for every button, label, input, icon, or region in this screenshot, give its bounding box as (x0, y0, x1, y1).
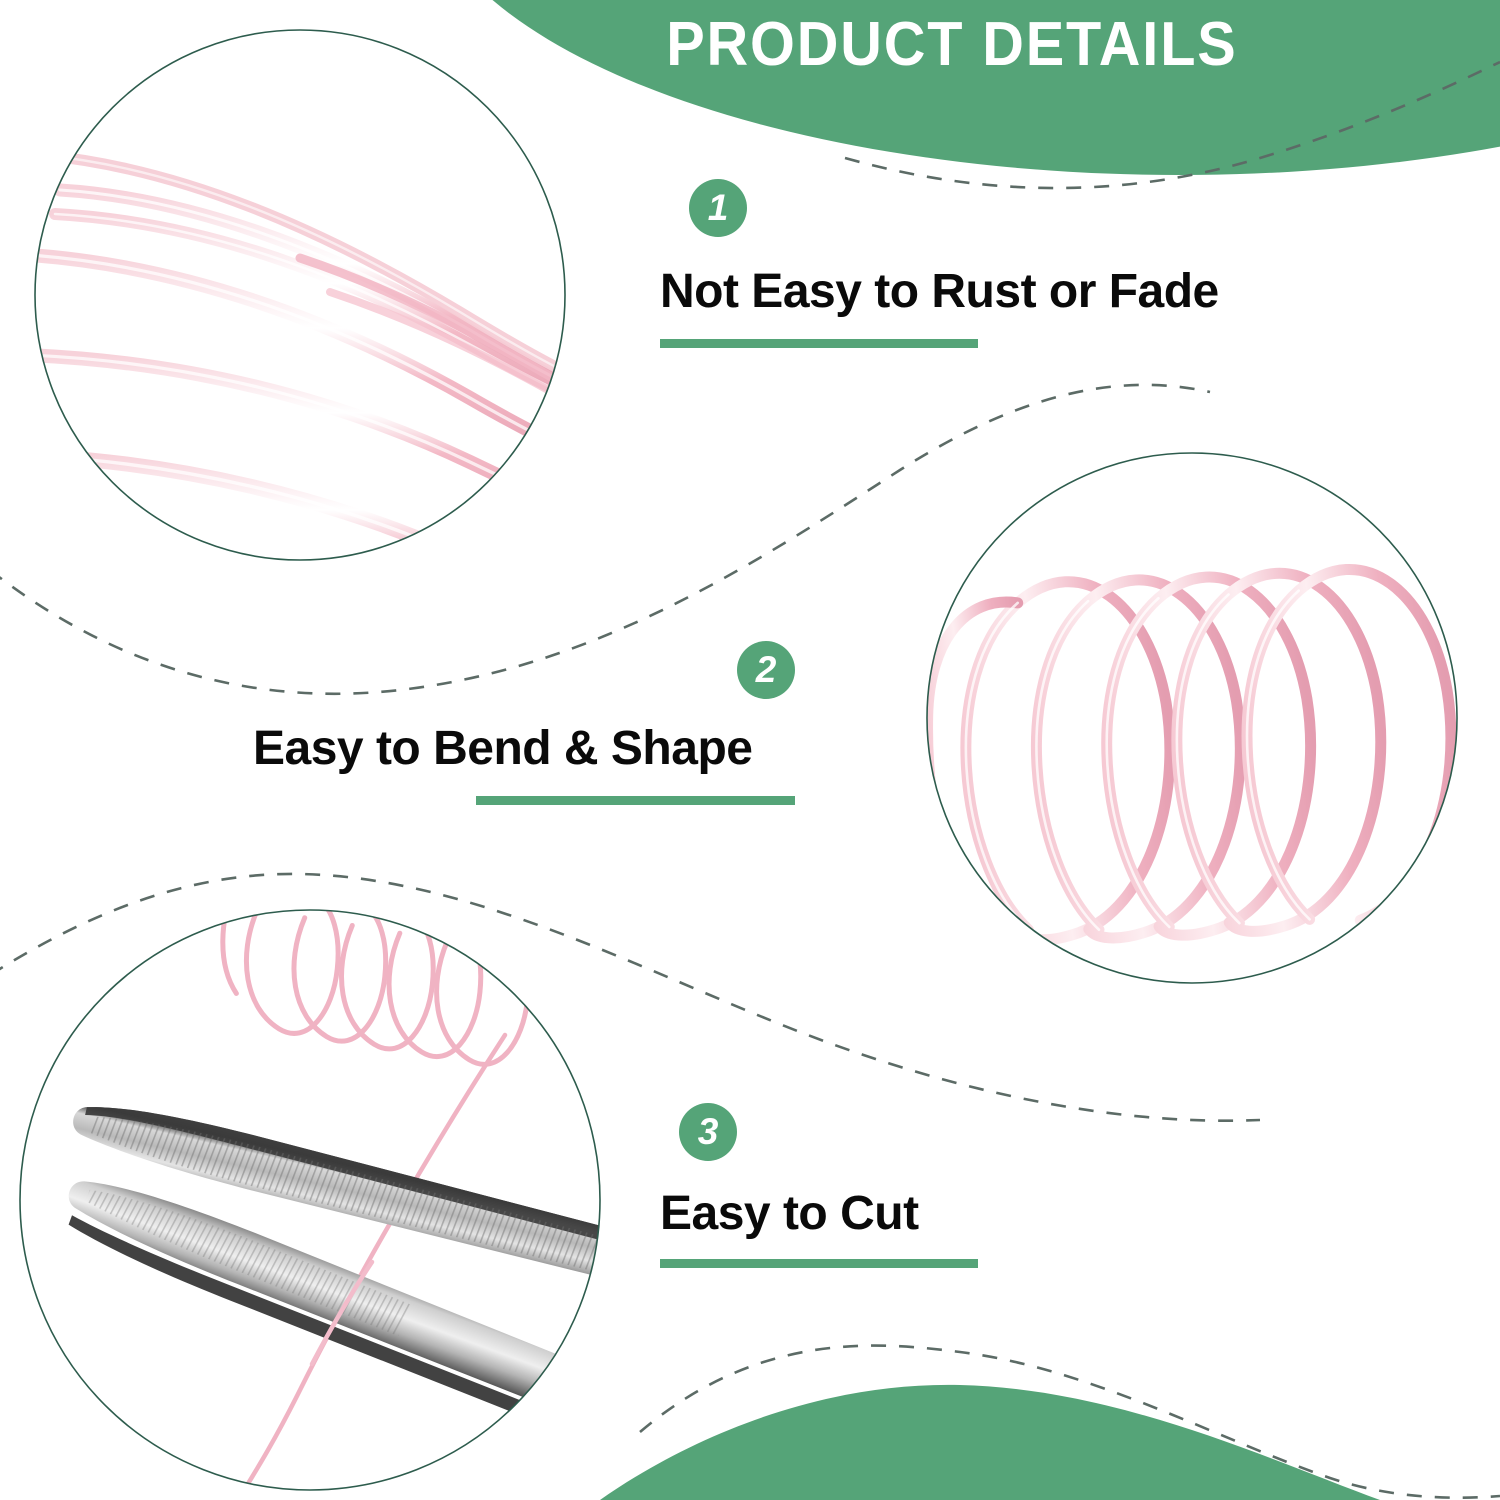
feature-underline-1 (660, 339, 978, 348)
feature-number-badge-1: 1 (689, 179, 747, 237)
feature-underline-2 (476, 796, 795, 805)
feature-number-badge-3: 3 (679, 1103, 737, 1161)
product-details-infographic: PRODUCT DETAILS 1 Not Easy to Rust or Fa… (0, 0, 1500, 1500)
feature-title-2: Easy to Bend & Shape (253, 721, 752, 777)
wire-cutting-photo (15, 864, 615, 1500)
footer-wave-shape (600, 1385, 1380, 1500)
feature-number-badge-2: 2 (737, 641, 795, 699)
feature-underline-3 (660, 1259, 978, 1268)
pink-wire-coil-photo (905, 445, 1477, 990)
feature-title-3: Easy to Cut (660, 1186, 919, 1242)
pink-wire-strands-photo (20, 30, 600, 612)
feature-title-1: Not Easy to Rust or Fade (660, 264, 1219, 320)
page-title: PRODUCT DETAILS (645, 9, 1259, 80)
